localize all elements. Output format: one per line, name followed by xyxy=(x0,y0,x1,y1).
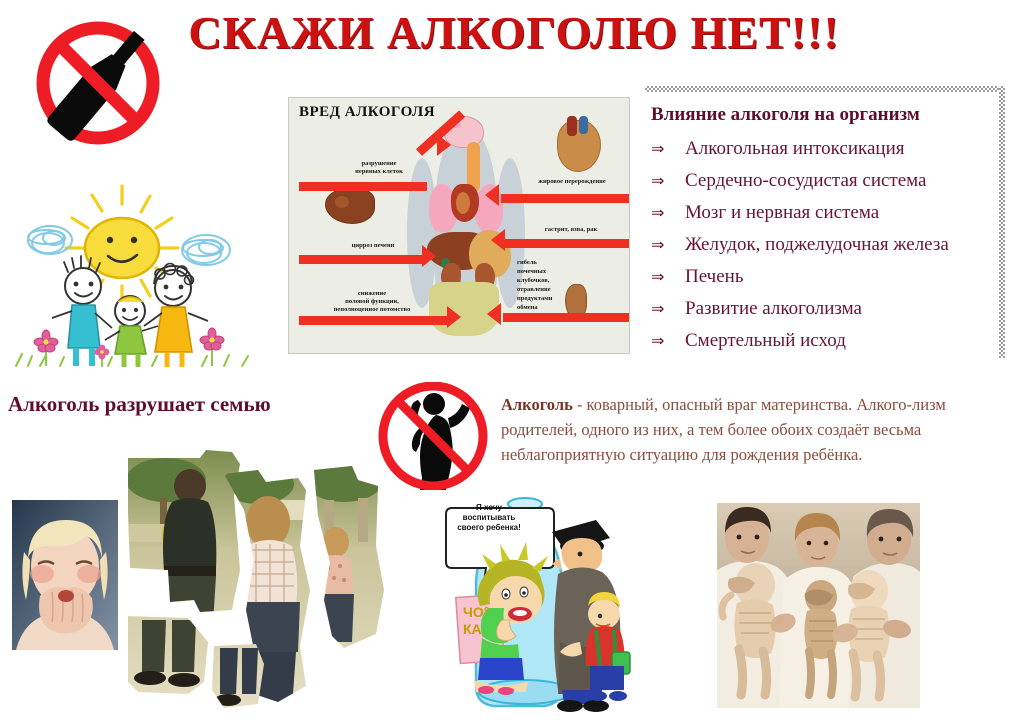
anatomy-label-fatty-degeneration: жировое перерождение xyxy=(517,178,627,186)
anatomy-label-nerve-cells: разрушениенервных клеток xyxy=(329,160,429,176)
anatomy-label-gastritis: гастрит, язва, рак xyxy=(521,226,621,234)
maternity-lead-word: Алкоголь xyxy=(501,395,573,414)
maternity-paragraph: Алкоголь - коварный, опасный враг матери… xyxy=(501,392,1016,467)
arrow-nerve-cells xyxy=(299,182,427,191)
list-item: ⇒Развитие алкоголизма xyxy=(651,298,1001,330)
list-item: ⇒Алкогольная интоксикация xyxy=(651,138,1001,170)
anatomy-harm-of-alcohol-poster: ВРЕД АЛКОГОЛЯ разрушениенервных клеток xyxy=(288,97,630,354)
effect-label: Желудок, поджелудочная железа xyxy=(685,234,949,256)
effect-label: Сердечно-сосудистая система xyxy=(685,170,926,192)
childrens-family-drawing xyxy=(10,168,260,368)
alcohol-effects-panel: Влияние алкоголя на организм ⇒Алкогольна… xyxy=(645,86,1013,358)
anatomy-label-liver-cirrhosis: цирроз печени xyxy=(333,242,413,250)
effects-list: ⇒Алкогольная интоксикация ⇒Сердечно-сосу… xyxy=(651,138,1001,362)
nurses-with-infants-photo xyxy=(717,503,920,708)
effect-label: Алкогольная интоксикация xyxy=(685,138,904,160)
family-section-heading: Алкоголь разрушает семью xyxy=(8,392,271,417)
effect-label: Смертельный исход xyxy=(685,330,846,352)
effect-label: Печень xyxy=(685,266,744,288)
arrow-kidney-death xyxy=(503,313,630,322)
arrow-sexual-function xyxy=(299,316,449,325)
crying-child-photo xyxy=(12,500,118,650)
arrow-liver-cirrhosis xyxy=(299,255,424,264)
arrow-bullet-icon: ⇒ xyxy=(651,139,685,159)
arrow-bullet-icon: ⇒ xyxy=(651,331,685,351)
list-item: ⇒Смертельный исход xyxy=(651,330,1001,362)
arrow-bullet-icon: ⇒ xyxy=(651,235,685,255)
arrow-bullet-icon: ⇒ xyxy=(651,171,685,191)
panel-top-border xyxy=(645,86,1005,92)
anatomy-label-sexual-function: снижениеполовой функции,неполноценное по… xyxy=(307,290,437,314)
list-item: ⇒Желудок, поджелудочная железа xyxy=(651,234,1001,266)
torn-family-photo xyxy=(128,450,428,712)
list-item: ⇒Печень xyxy=(651,266,1001,298)
effects-heading: Влияние алкоголя на организм xyxy=(651,104,920,126)
no-alcohol-bottle-icon xyxy=(18,18,178,148)
list-item: ⇒Сердечно-сосудистая система xyxy=(651,170,1001,202)
anatomy-label-kidney-death: гибельпочечныхклубочков,отравлениепродук… xyxy=(517,258,565,312)
bottle-label-top: ЧО° xyxy=(463,604,489,620)
bottle-label-bottom: КА xyxy=(463,621,482,637)
arrow-bullet-icon: ⇒ xyxy=(651,299,685,319)
arrow-gastritis xyxy=(505,239,630,248)
anatomy-poster-title: ВРЕД АЛКОГОЛЯ xyxy=(299,104,435,121)
effect-label: Развитие алкоголизма xyxy=(685,298,862,320)
arrow-bullet-icon: ⇒ xyxy=(651,203,685,223)
effect-label: Мозг и нервная система xyxy=(685,202,879,224)
arrow-bullet-icon: ⇒ xyxy=(651,267,685,287)
list-item: ⇒Мозг и нервная система xyxy=(651,202,1001,234)
arrow-fatty-degeneration xyxy=(501,194,630,203)
bottle-label-text: ЧО° КА xyxy=(463,604,503,638)
